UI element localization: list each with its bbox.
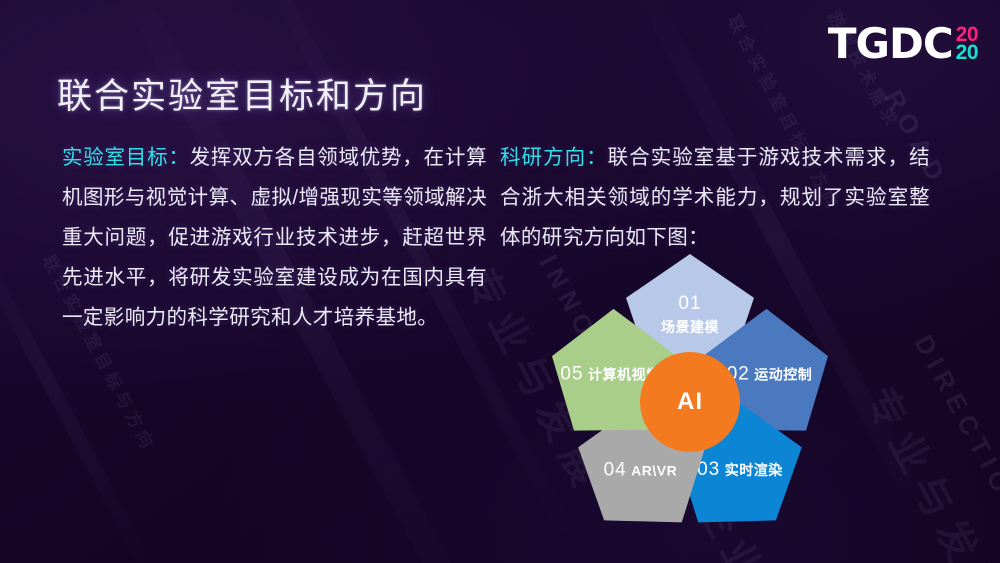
petal-05-number: 05	[560, 364, 583, 385]
petal-03-number: 03	[697, 460, 720, 481]
page-title: 联合实验室目标和方向	[57, 68, 427, 119]
right-lead-label: 科研方向：	[500, 146, 608, 169]
watermark-text: DIRECTION	[908, 330, 1000, 526]
petal-02-content: 02 运动控制	[727, 365, 813, 386]
logo-year-stack: 20 20	[956, 24, 978, 63]
logo-year-bottom: 20	[956, 44, 978, 62]
diagram-center-ai[interactable]: AI	[640, 352, 740, 452]
petal-01-label: 场景建模	[661, 320, 719, 335]
left-body-text: 发挥双方各自领域优势，在计算机图形与视觉计算、虚拟/增强现实等领域解决重大问题，…	[62, 146, 487, 329]
logo-wordmark: TGDC	[828, 24, 953, 64]
petal-03-content: 03 实时渲染	[697, 461, 783, 482]
right-text-column: 科研方向：联合实验室基于游戏技术需求，结合浙大相关领域的学术能力，规划了实验室整…	[500, 138, 930, 258]
petal-04-number: 04	[603, 460, 626, 481]
left-lead-label: 实验室目标：	[62, 146, 190, 169]
petal-01-number: 01	[678, 294, 701, 315]
petal-03-label: 实时渲染	[725, 463, 783, 479]
petal-04-label: AR\VR	[631, 463, 677, 479]
slide-canvas: ROAD INNOVATION DIRECTION 专业与发展 提升企业竞争力 …	[0, 0, 1000, 563]
tgdc-logo: TGDC 20 20	[828, 24, 978, 64]
left-text-column: 实验室目标：发挥双方各自领域优势，在计算机图形与视觉计算、虚拟/增强现实等领域解…	[62, 138, 487, 338]
research-directions-diagram: 01 场景建模 02 运动控制 03 实时渲染 04 AR\VR 05	[510, 252, 890, 552]
petal-04-content: 04 AR\VR	[603, 461, 677, 482]
right-paragraph: 科研方向：联合实验室基于游戏技术需求，结合浙大相关领域的学术能力，规划了实验室整…	[500, 138, 930, 258]
left-paragraph: 实验室目标：发挥双方各自领域优势，在计算机图形与视觉计算、虚拟/增强现实等领域解…	[62, 138, 487, 338]
petal-01-content: 01 场景建模	[661, 294, 719, 335]
petal-02-label: 运动控制	[755, 367, 813, 383]
